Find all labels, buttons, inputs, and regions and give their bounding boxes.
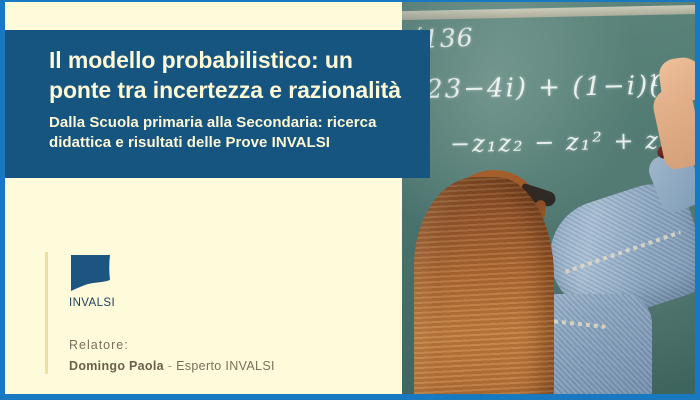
invalsi-wordmark: INVALSI <box>69 297 133 309</box>
webinar-banner: √136 (23−4i) + (1−i)194(10+2i) −z₁z₂ − z… <box>0 0 700 400</box>
invalsi-logo: INVALSI <box>69 254 133 309</box>
speaker-info: Relatore: Domingo Paola - Esperto INVALS… <box>69 336 275 377</box>
student-hand <box>657 55 700 104</box>
footer-block: INVALSI Relatore: Domingo Paola - Espert… <box>45 252 375 374</box>
speaker-role: Esperto INVALSI <box>176 359 275 373</box>
speaker-name: Domingo Paola <box>69 359 164 373</box>
speaker-separator: - <box>164 359 176 373</box>
speaker-line: Domingo Paola - Esperto INVALSI <box>69 357 275 376</box>
page-title: Il modello probabilistico: un ponte tra … <box>49 46 408 106</box>
student-chalkboard-photo: √136 (23−4i) + (1−i)194(10+2i) −z₁z₂ − z… <box>402 2 700 394</box>
footer-content: INVALSI Relatore: Domingo Paola - Espert… <box>48 252 275 374</box>
invalsi-flag-icon <box>69 254 113 296</box>
student-hair <box>414 177 554 394</box>
speaker-label: Relatore: <box>69 336 275 355</box>
student-figure <box>402 2 700 394</box>
page-subtitle: Dalla Scuola primaria alla Secondaria: r… <box>49 113 408 154</box>
headline-panel: Il modello probabilistico: un ponte tra … <box>0 30 430 178</box>
